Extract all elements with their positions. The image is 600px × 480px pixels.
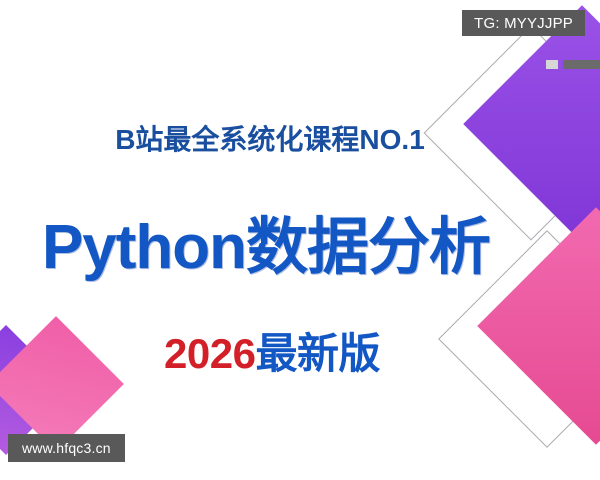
version-year-text: 2026	[164, 330, 255, 377]
poster-text-stack: B站最全系统化课程NO.1 Python数据分析 2026最新版	[0, 0, 600, 480]
poster-title: Python数据分析	[0, 196, 600, 286]
site-url-watermark-badge: www.hfqc3.cn	[8, 434, 125, 462]
course-poster: B站最全系统化课程NO.1 Python数据分析 2026最新版 TG: MYY…	[0, 0, 600, 480]
version-tag-text: 最新版	[255, 330, 380, 377]
telegram-watermark-badge: TG: MYYJJPP	[462, 10, 585, 36]
poster-version-line: 2026最新版	[0, 320, 600, 381]
poster-subheading: B站最全系统化课程NO.1	[0, 118, 600, 158]
